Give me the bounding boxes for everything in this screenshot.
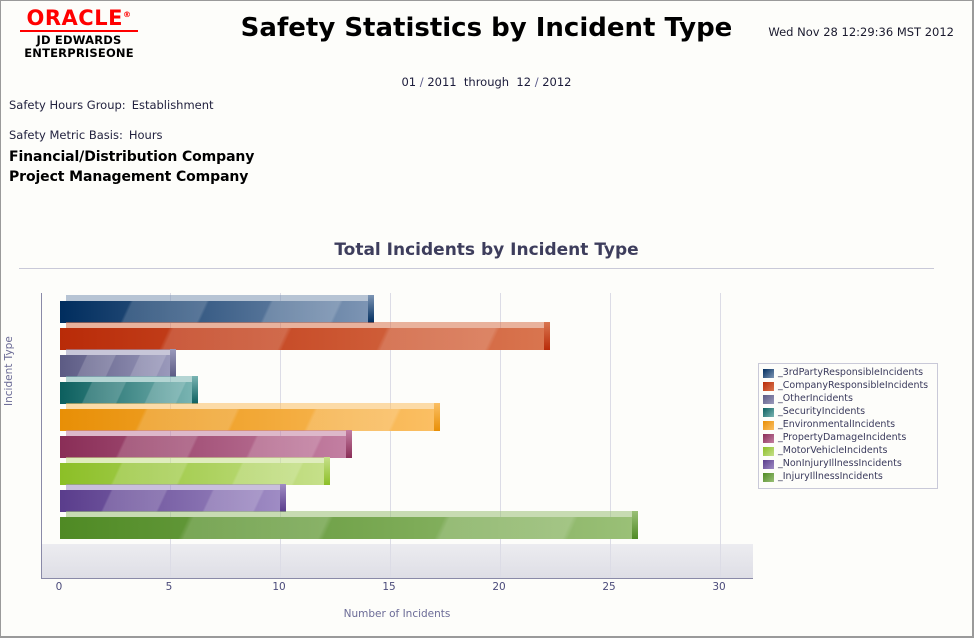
- period-from-month: 01: [401, 75, 416, 89]
- chart-bar-sheen: [60, 355, 170, 377]
- legend-item[interactable]: _PropertyDamageIncidents: [763, 432, 933, 444]
- chart-bars: [42, 293, 753, 544]
- legend-item-label: _EnvironmentalIncidents: [778, 420, 895, 430]
- legend-item-label: _InjuryIllnessIncidents: [778, 472, 883, 482]
- chart-bar-row: [42, 405, 753, 431]
- chart-x-tick-label: 0: [56, 581, 63, 593]
- chart-bar[interactable]: [60, 328, 544, 350]
- legend-color-swatch: [763, 460, 774, 469]
- chart-x-axis-ticks: 051015202530: [41, 581, 753, 597]
- period-connector: through: [464, 75, 509, 89]
- chart-bar-row: [42, 486, 753, 512]
- chart-bar[interactable]: [60, 355, 170, 377]
- meta-label-safety-metric-basis: Safety Metric Basis:: [9, 128, 123, 142]
- legend-item[interactable]: _EnvironmentalIncidents: [763, 419, 933, 431]
- chart-x-tick-label: 5: [166, 581, 173, 593]
- chart-bar-side-face: [280, 484, 286, 512]
- chart-bar[interactable]: [60, 301, 368, 323]
- chart-x-tick-label: 15: [382, 581, 395, 593]
- period-slash-from: /: [420, 75, 424, 89]
- legend-item[interactable]: _InjuryIllnessIncidents: [763, 471, 933, 483]
- company-name-project-management: Project Management Company: [9, 169, 248, 185]
- chart-bar[interactable]: [60, 436, 346, 458]
- chart-bar-side-face: [434, 403, 440, 431]
- chart-bar-sheen: [60, 382, 192, 404]
- chart-bar[interactable]: [60, 382, 192, 404]
- period-from-year: 2011: [427, 75, 456, 89]
- chart-bar-side-face: [544, 322, 550, 350]
- legend-item[interactable]: _CompanyResponsibleIncidents: [763, 380, 933, 392]
- legend-color-swatch: [763, 408, 774, 417]
- legend-item-label: _3rdPartyResponsibleIncidents: [778, 368, 923, 378]
- chart-title-divider: [19, 268, 934, 269]
- chart-bar[interactable]: [60, 409, 434, 431]
- logo-line-enterpriseone: ENTERPRISEONE: [15, 47, 143, 60]
- chart-bar[interactable]: [60, 517, 632, 539]
- chart-x-tick-label: 30: [712, 581, 725, 593]
- chart-bar-sheen: [60, 301, 368, 323]
- chart-bar-sheen: [60, 328, 544, 350]
- chart-plot-area: [41, 293, 753, 579]
- legend-item[interactable]: _SecurityIncidents: [763, 406, 933, 418]
- meta-safety-metric-basis: Safety Metric Basis:Hours: [9, 128, 163, 142]
- report-page: ORACLE® JD EDWARDS ENTERPRISEONE Safety …: [0, 0, 974, 638]
- legend-item-label: _PropertyDamageIncidents: [778, 433, 906, 443]
- legend-color-swatch: [763, 447, 774, 456]
- chart-floor-3d: [42, 544, 753, 578]
- legend-item-label: _NonInjuryIllnessIncidents: [778, 459, 902, 469]
- legend-item[interactable]: _3rdPartyResponsibleIncidents: [763, 367, 933, 379]
- chart-bar-row: [42, 351, 753, 377]
- company-name-financial-distribution: Financial/Distribution Company: [9, 149, 254, 165]
- legend-item-label: _MotorVehicleIncidents: [778, 446, 887, 456]
- chart-bar-sheen: [60, 463, 324, 485]
- period-to-year: 2012: [542, 75, 571, 89]
- legend-item-label: _SecurityIncidents: [778, 407, 865, 417]
- meta-label-safety-hours-group: Safety Hours Group:: [9, 98, 126, 112]
- chart-bar-row: [42, 459, 753, 485]
- chart-x-tick-label: 25: [602, 581, 615, 593]
- legend-color-swatch: [763, 369, 774, 378]
- chart-bar-row: [42, 324, 753, 350]
- report-period: 01 / 2011 through 12 / 2012: [1, 75, 972, 89]
- chart-x-axis-label: Number of Incidents: [41, 608, 753, 620]
- chart-legend: _3rdPartyResponsibleIncidents_CompanyRes…: [758, 363, 938, 489]
- chart-bar-side-face: [192, 376, 198, 404]
- legend-item[interactable]: _MotorVehicleIncidents: [763, 445, 933, 457]
- chart-bar-side-face: [346, 430, 352, 458]
- chart-bar-side-face: [368, 295, 374, 323]
- chart-bar-row: [42, 378, 753, 404]
- legend-item[interactable]: _NonInjuryIllnessIncidents: [763, 458, 933, 470]
- chart-x-tick-label: 20: [492, 581, 505, 593]
- legend-color-swatch: [763, 382, 774, 391]
- legend-item-label: _OtherIncidents: [778, 394, 853, 404]
- chart-bar-sheen: [60, 490, 280, 512]
- chart-bar-side-face: [170, 349, 176, 377]
- chart-bar-side-face: [324, 457, 330, 485]
- legend-color-swatch: [763, 434, 774, 443]
- period-to-month: 12: [516, 75, 531, 89]
- chart-bar-sheen: [60, 409, 434, 431]
- chart-bar-sheen: [60, 436, 346, 458]
- chart-bar-row: [42, 297, 753, 323]
- chart-bar-side-face: [632, 511, 638, 539]
- legend-item[interactable]: _OtherIncidents: [763, 393, 933, 405]
- meta-safety-hours-group: Safety Hours Group:Establishment: [9, 98, 214, 112]
- chart-x-tick-label: 10: [272, 581, 285, 593]
- legend-color-swatch: [763, 395, 774, 404]
- chart-bar[interactable]: [60, 463, 324, 485]
- meta-value-safety-metric-basis: Hours: [129, 128, 163, 142]
- period-slash-to: /: [535, 75, 539, 89]
- meta-value-safety-hours-group: Establishment: [132, 98, 214, 112]
- chart-bar-row: [42, 513, 753, 539]
- legend-color-swatch: [763, 473, 774, 482]
- chart-bar-row: [42, 432, 753, 458]
- chart-bar-sheen: [60, 517, 632, 539]
- legend-color-swatch: [763, 421, 774, 430]
- chart-bar[interactable]: [60, 490, 280, 512]
- report-timestamp: Wed Nov 28 12:29:36 MST 2012: [768, 25, 954, 39]
- chart-plot-wrapper: [41, 293, 753, 579]
- legend-item-label: _CompanyResponsibleIncidents: [778, 381, 928, 391]
- chart-y-axis-label: Incident Type: [3, 336, 15, 406]
- chart-title: Total Incidents by Incident Type: [1, 240, 972, 260]
